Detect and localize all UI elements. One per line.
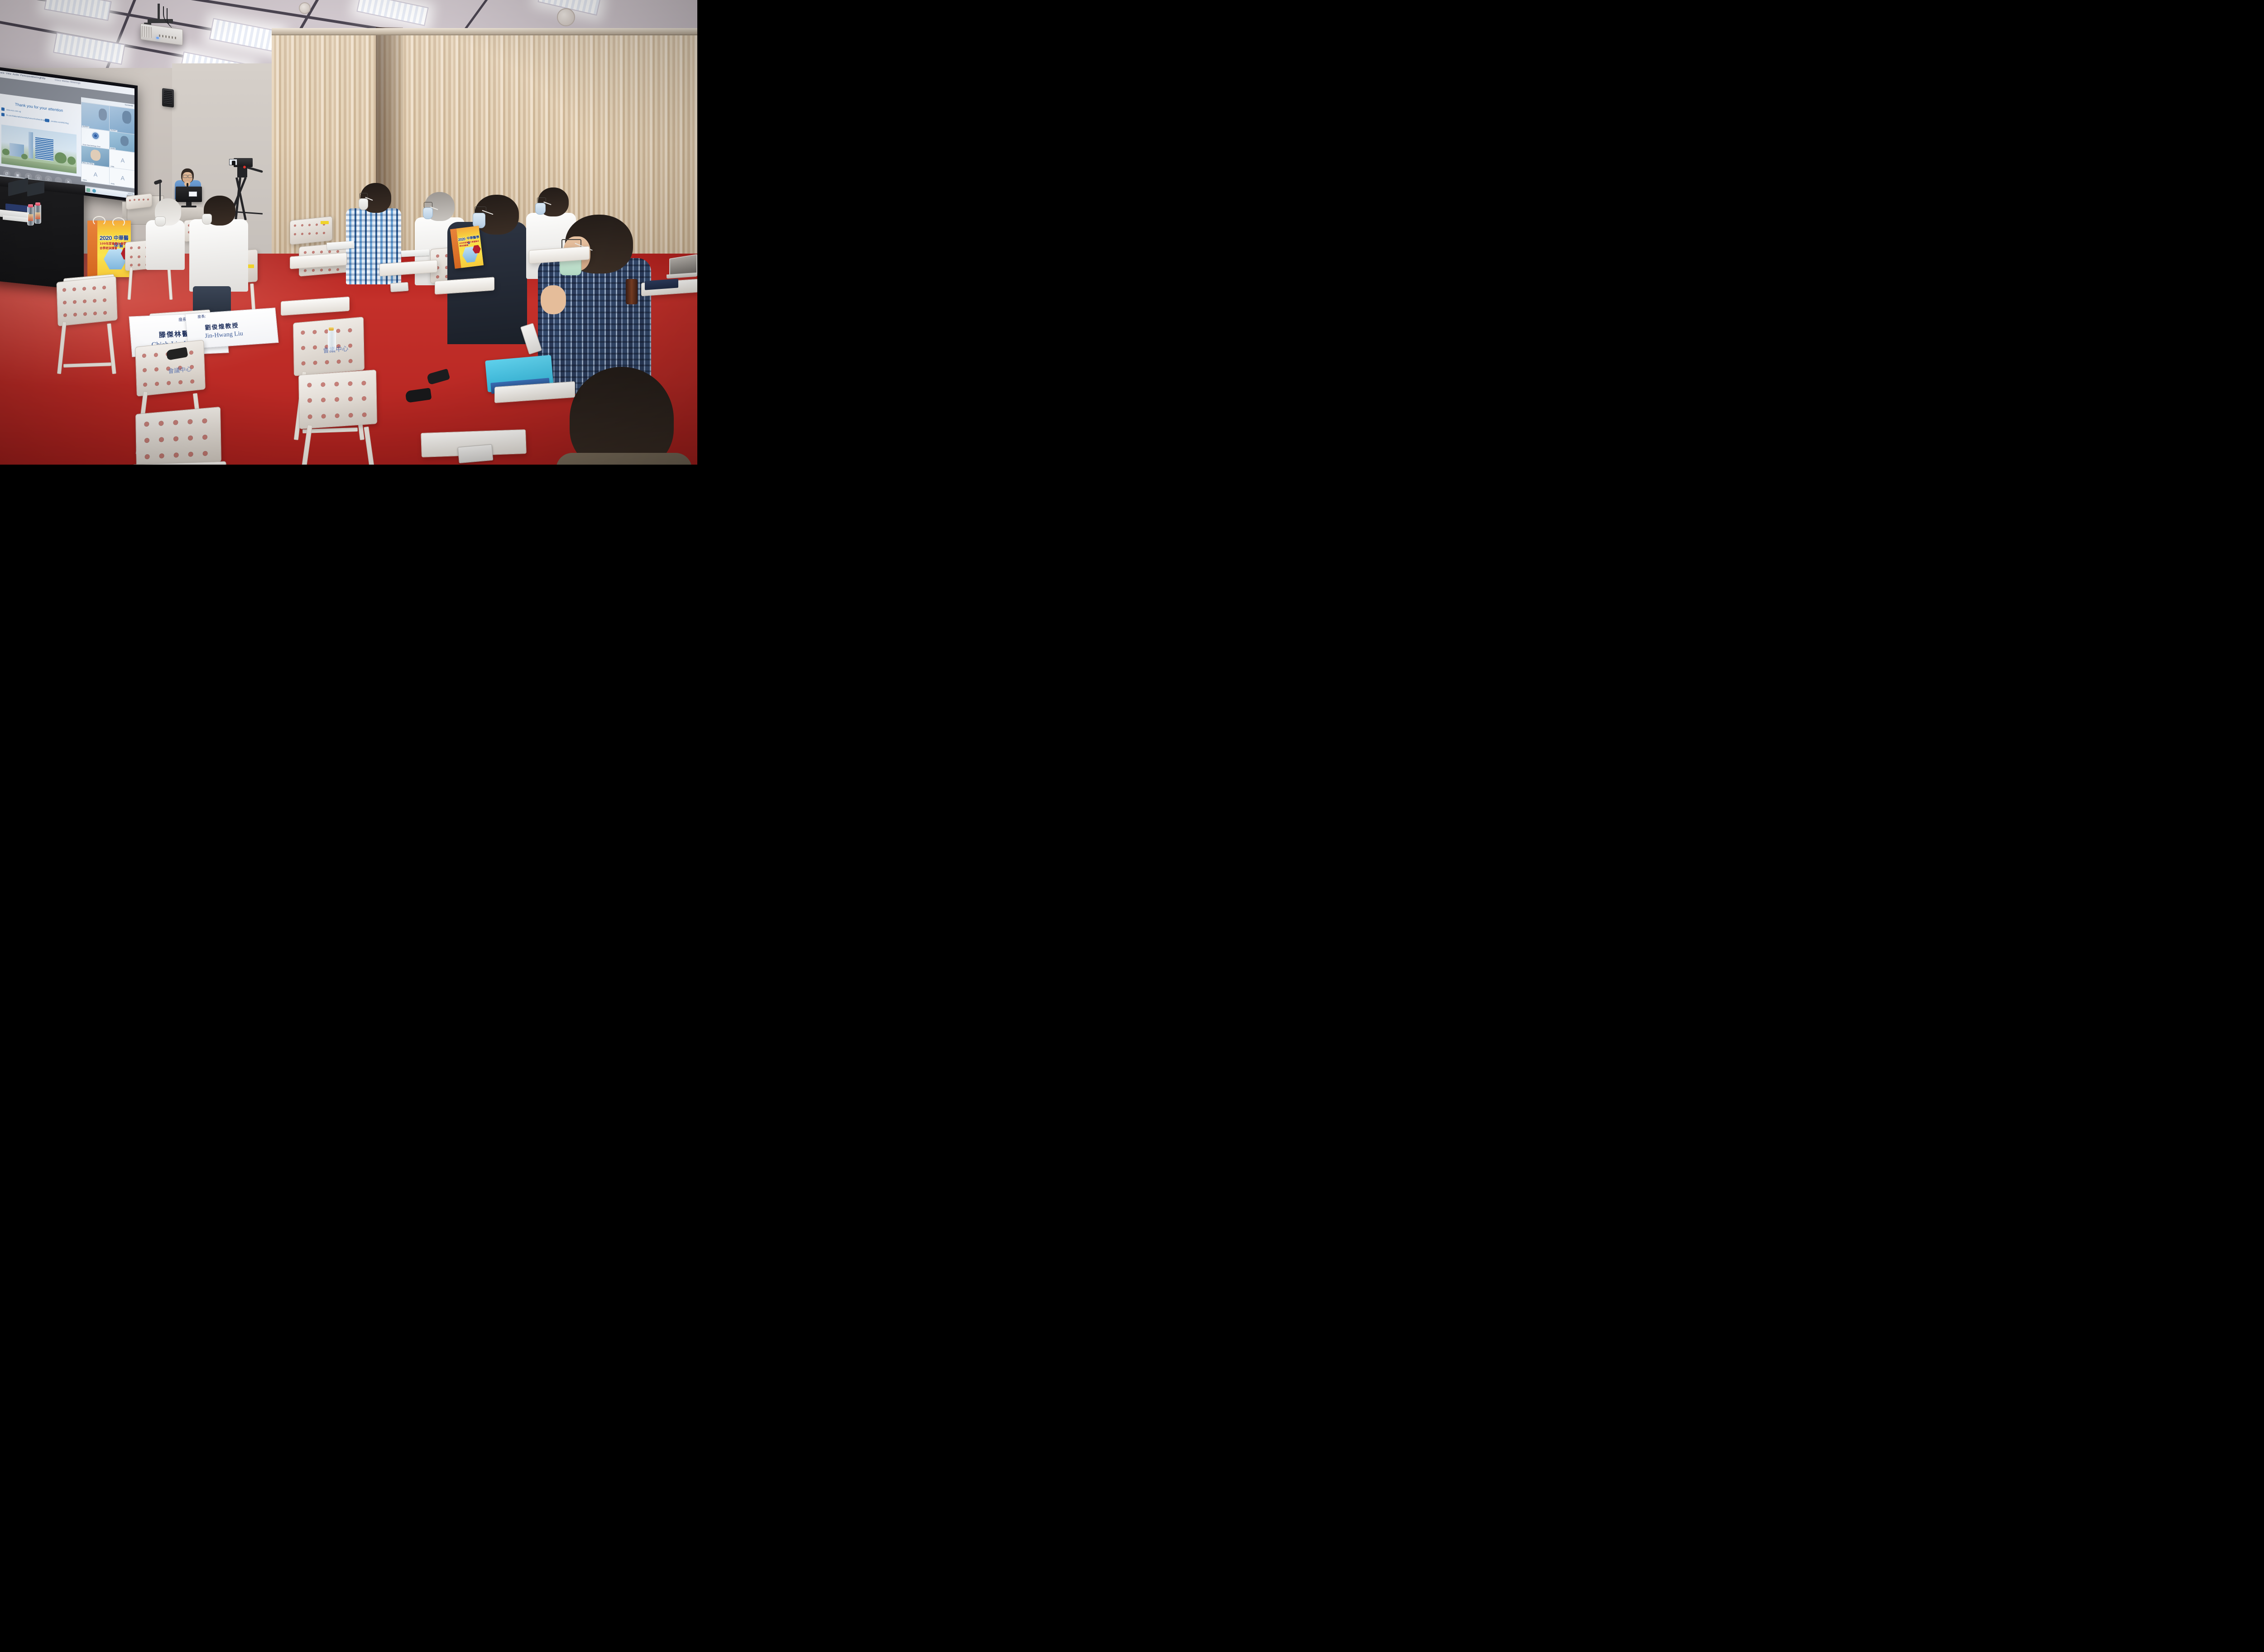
attendee-torso [556,453,692,465]
app6-icon[interactable] [86,188,90,192]
menu-item-participant[interactable]: Participant [20,74,33,79]
participant-avatar: A [110,168,134,188]
slide-facebook-link[interactable]: fb.com/NationalUniversityCancerInstitute… [6,114,49,122]
tumbler-bottle [626,279,638,304]
camera-lens-icon [232,161,235,165]
smartphone[interactable] [390,282,408,293]
connection-status: Connected [125,104,133,106]
slide-campus-photo [1,125,77,173]
attendee-torso [146,220,185,270]
slide-title: Thank you for your attention [0,100,81,115]
youtube-icon [45,119,49,122]
slide-youtube-link[interactable]: youtube.com/NCISsg [51,120,69,125]
ceiling-light-panel [44,0,111,21]
placard-name-en: Jin-Hwang Liu [205,330,244,340]
home-icon [1,107,5,111]
face-mask [359,198,368,210]
attendee-hand [541,285,566,314]
webex-window-title: Cisco Webex Meetings [55,79,81,85]
water-bottle [328,330,336,351]
facebook-icon [1,113,5,116]
smoke-detector-icon [557,8,575,26]
shared-slide: Thank you for your attention www.ncis.co… [0,93,81,177]
tripod-head [237,167,247,178]
conference-room-photo: Share View Audio Participant Meeting Hel… [0,0,697,465]
participant-grid: Connected DV/PPT DV/PPT Hosp Haematology… [81,97,134,187]
monitor-base [181,206,197,207]
face-mask [202,214,212,225]
water-bottle [27,206,34,226]
participant-tile[interactable]: A Aisha [81,163,110,186]
face-mask [535,203,546,215]
chair-tape-marker [321,221,329,224]
smartphone[interactable] [458,444,494,463]
face-mask [423,207,433,219]
gift-bag-handle [112,217,125,227]
menu-item-audio[interactable]: Audio [13,73,19,77]
smoke-detector-icon [299,2,311,14]
attendee-head [570,367,674,465]
app7-icon[interactable] [92,188,96,192]
chair-venue-mark: 會議中心 [168,364,192,375]
conference-gift-bag: 2020 中華醫學會 109年度會員大會暨聯合學術演講會 [87,221,131,277]
menu-item-view[interactable]: View [6,72,11,76]
ceiling-light-panel [356,0,428,26]
ceiling-light-panel [209,18,282,53]
menu-item-meeting[interactable]: Meeting [32,76,41,80]
participant-tile[interactable]: DV/PPT [109,106,134,135]
gift-bag-year: 2020 [100,235,112,241]
water-bottle [34,205,41,224]
wall-speaker [162,88,174,107]
menu-item-share[interactable]: Share [0,71,5,75]
placard-role: 座長: [197,314,206,319]
participant-avatar: A [82,164,110,185]
participant-tile[interactable]: A Anita [109,167,134,189]
record-indicator-icon [243,166,246,168]
ceiling-projector [140,14,190,46]
monitor-asset-sticker [189,192,197,197]
face-mask [155,216,166,226]
glasses-icon [188,175,192,178]
curtain-rail [272,28,697,35]
conference-gift-bag: 2020 中華醫學會 109年度會員大會暨聯合學術演講會 [450,226,484,269]
placard-name-cn: 劉俊煌教授 [205,321,240,331]
gift-bag-handle [93,216,106,226]
menu-item-help[interactable]: Help [40,77,45,81]
slide-home-link[interactable]: www.ncis.com.sg [6,109,21,113]
attendee-torso [189,219,248,292]
glasses-icon [183,175,187,178]
